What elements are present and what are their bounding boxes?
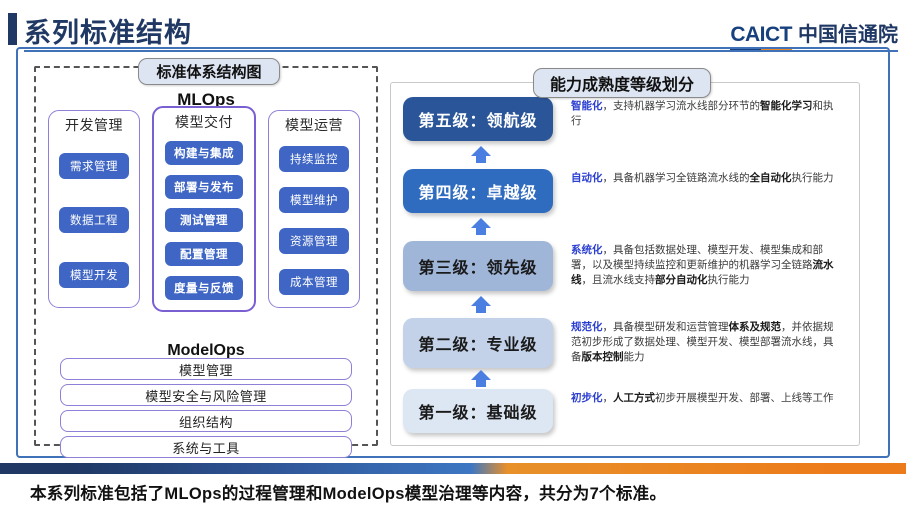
- arrow-shaft: [476, 154, 486, 163]
- maturity-text: 执行能力: [792, 172, 834, 184]
- maturity-keyword: 规范化: [571, 321, 603, 333]
- page-title: 系列标准结构: [24, 11, 192, 50]
- pillar-item-chip[interactable]: 模型维护: [279, 187, 349, 213]
- pillar-item-chip[interactable]: 配置管理: [165, 242, 243, 266]
- right-panel-caption: 能力成熟度等级划分: [533, 68, 711, 98]
- maturity-level-description: 系统化，具备包括数据处理、模型开发、模型集成和部署，以及模型持续监控和更新维护的…: [571, 241, 843, 289]
- pillar-title: 模型运营: [285, 115, 343, 135]
- maturity-text: ，支持机器学习流水线部分环节的: [603, 100, 761, 112]
- pillar-item-chip[interactable]: 构建与集成: [165, 141, 243, 165]
- pillar-dev-management: 开发管理 需求管理 数据工程 模型开发: [48, 110, 140, 308]
- maturity-level-box[interactable]: 第一级：基础级: [403, 389, 553, 433]
- footer-summary-text: 本系列标准包括了MLOps的过程管理和ModelOps模型治理等内容，共分为7个…: [30, 480, 666, 504]
- maturity-level-description: 规范化，具备模型研发和运营管理体系及规范，并依据规范初步形成了数据处理、模型开发…: [571, 318, 843, 366]
- arrow-shaft: [476, 378, 486, 387]
- footer-gradient-bar: [0, 463, 906, 474]
- arrow-shaft: [476, 226, 486, 235]
- pillar-item-chip[interactable]: 数据工程: [59, 207, 129, 233]
- pillar-item-chip[interactable]: 部署与发布: [165, 175, 243, 199]
- maturity-level-row: 第三级：领先级系统化，具备包括数据处理、模型开发、模型集成和部署，以及模型持续监…: [391, 241, 861, 291]
- left-panel-caption: 标准体系结构图: [138, 58, 280, 85]
- pillar-items: 构建与集成 部署与发布 测试管理 配置管理 度量与反馈: [154, 136, 254, 310]
- maturity-emphasis: 智能化学习: [760, 100, 813, 112]
- maturity-keyword: 自动化: [571, 172, 603, 184]
- maturity-text: 能力: [624, 351, 645, 363]
- maturity-level-box[interactable]: 第四级：卓越级: [403, 169, 553, 213]
- maturity-text: ，具备包括数据处理、模型开发、模型集成和部署，以及模型持续监控和更新维护的机器学…: [571, 244, 823, 271]
- maturity-text: ，具备机器学习全链路流水线的: [603, 172, 750, 184]
- pillar-items: 需求管理 数据工程 模型开发: [49, 139, 139, 307]
- maturity-text: ，具备模型研发和运营管理: [603, 321, 729, 333]
- maturity-keyword: 系统化: [571, 244, 603, 256]
- logo-name-text: 中国信通院: [798, 18, 898, 47]
- pillar-item-chip[interactable]: 度量与反馈: [165, 276, 243, 300]
- maturity-keyword: 初步化: [571, 392, 603, 404]
- maturity-level-row: 第四级：卓越级自动化，具备机器学习全链路流水线的全自动化执行能力: [391, 169, 861, 213]
- maturity-emphasis: 版本控制: [582, 351, 624, 363]
- maturity-level-row: 第一级：基础级初步化，人工方式初步开展模型开发、部署、上线等工作: [391, 389, 861, 433]
- modelops-row[interactable]: 模型安全与风险管理: [60, 384, 352, 406]
- maturity-level-description: 智能化，支持机器学习流水线部分环节的智能化学习和执行: [571, 97, 843, 129]
- pillar-items: 持续监控 模型维护 资源管理 成本管理: [269, 139, 359, 307]
- pillar-item-chip[interactable]: 资源管理: [279, 228, 349, 254]
- maturity-text: ，: [603, 392, 614, 404]
- maturity-level-row: 第五级：领航级智能化，支持机器学习流水线部分环节的智能化学习和执行: [391, 97, 861, 141]
- maturity-text: 执行能力: [708, 274, 750, 286]
- modelops-row[interactable]: 系统与工具: [60, 436, 352, 458]
- modelops-row[interactable]: 组织结构: [60, 410, 352, 432]
- pillar-model-operations: 模型运营 持续监控 模型维护 资源管理 成本管理: [268, 110, 360, 308]
- maturity-level-box[interactable]: 第三级：领先级: [403, 241, 553, 291]
- pillar-model-delivery: 模型交付 构建与集成 部署与发布 测试管理 配置管理 度量与反馈: [152, 106, 256, 312]
- title-accent-bar: [8, 13, 17, 45]
- pillar-item-chip[interactable]: 成本管理: [279, 269, 349, 295]
- maturity-text: ，且流水线支持: [582, 274, 656, 286]
- maturity-level-box[interactable]: 第二级：专业级: [403, 318, 553, 368]
- slide-root: 系列标准结构 CAICT 中国信通院 标准体系结构图 MLOps 开发管理 需求…: [0, 0, 906, 512]
- maturity-emphasis: 人工方式: [613, 392, 655, 404]
- arrow-shaft: [476, 304, 486, 313]
- maturity-levels-panel: 第五级：领航级智能化，支持机器学习流水线部分环节的智能化学习和执行第四级：卓越级…: [390, 82, 860, 446]
- maturity-level-description: 自动化，具备机器学习全链路流水线的全自动化执行能力: [571, 169, 843, 186]
- pillar-item-chip[interactable]: 测试管理: [165, 208, 243, 232]
- maturity-keyword: 智能化: [571, 100, 603, 112]
- maturity-level-description: 初步化，人工方式初步开展模型开发、部署、上线等工作: [571, 389, 843, 406]
- pillar-title: 模型交付: [175, 112, 233, 132]
- pillar-item-chip[interactable]: 需求管理: [59, 153, 129, 179]
- slide-header: 系列标准结构 CAICT 中国信通院: [0, 0, 906, 52]
- pillar-item-chip[interactable]: 持续监控: [279, 146, 349, 172]
- pillar-item-chip[interactable]: 模型开发: [59, 262, 129, 288]
- maturity-level-box[interactable]: 第五级：领航级: [403, 97, 553, 141]
- maturity-emphasis: 部分自动化: [655, 274, 708, 286]
- pillar-title: 开发管理: [65, 115, 123, 135]
- maturity-emphasis: 全自动化: [750, 172, 792, 184]
- maturity-emphasis: 体系及规范: [729, 321, 782, 333]
- maturity-text: 初步开展模型开发、部署、上线等工作: [655, 392, 834, 404]
- maturity-level-row: 第二级：专业级规范化，具备模型研发和运营管理体系及规范，并依据规范初步形成了数据…: [391, 318, 861, 368]
- modelops-row[interactable]: 模型管理: [60, 358, 352, 380]
